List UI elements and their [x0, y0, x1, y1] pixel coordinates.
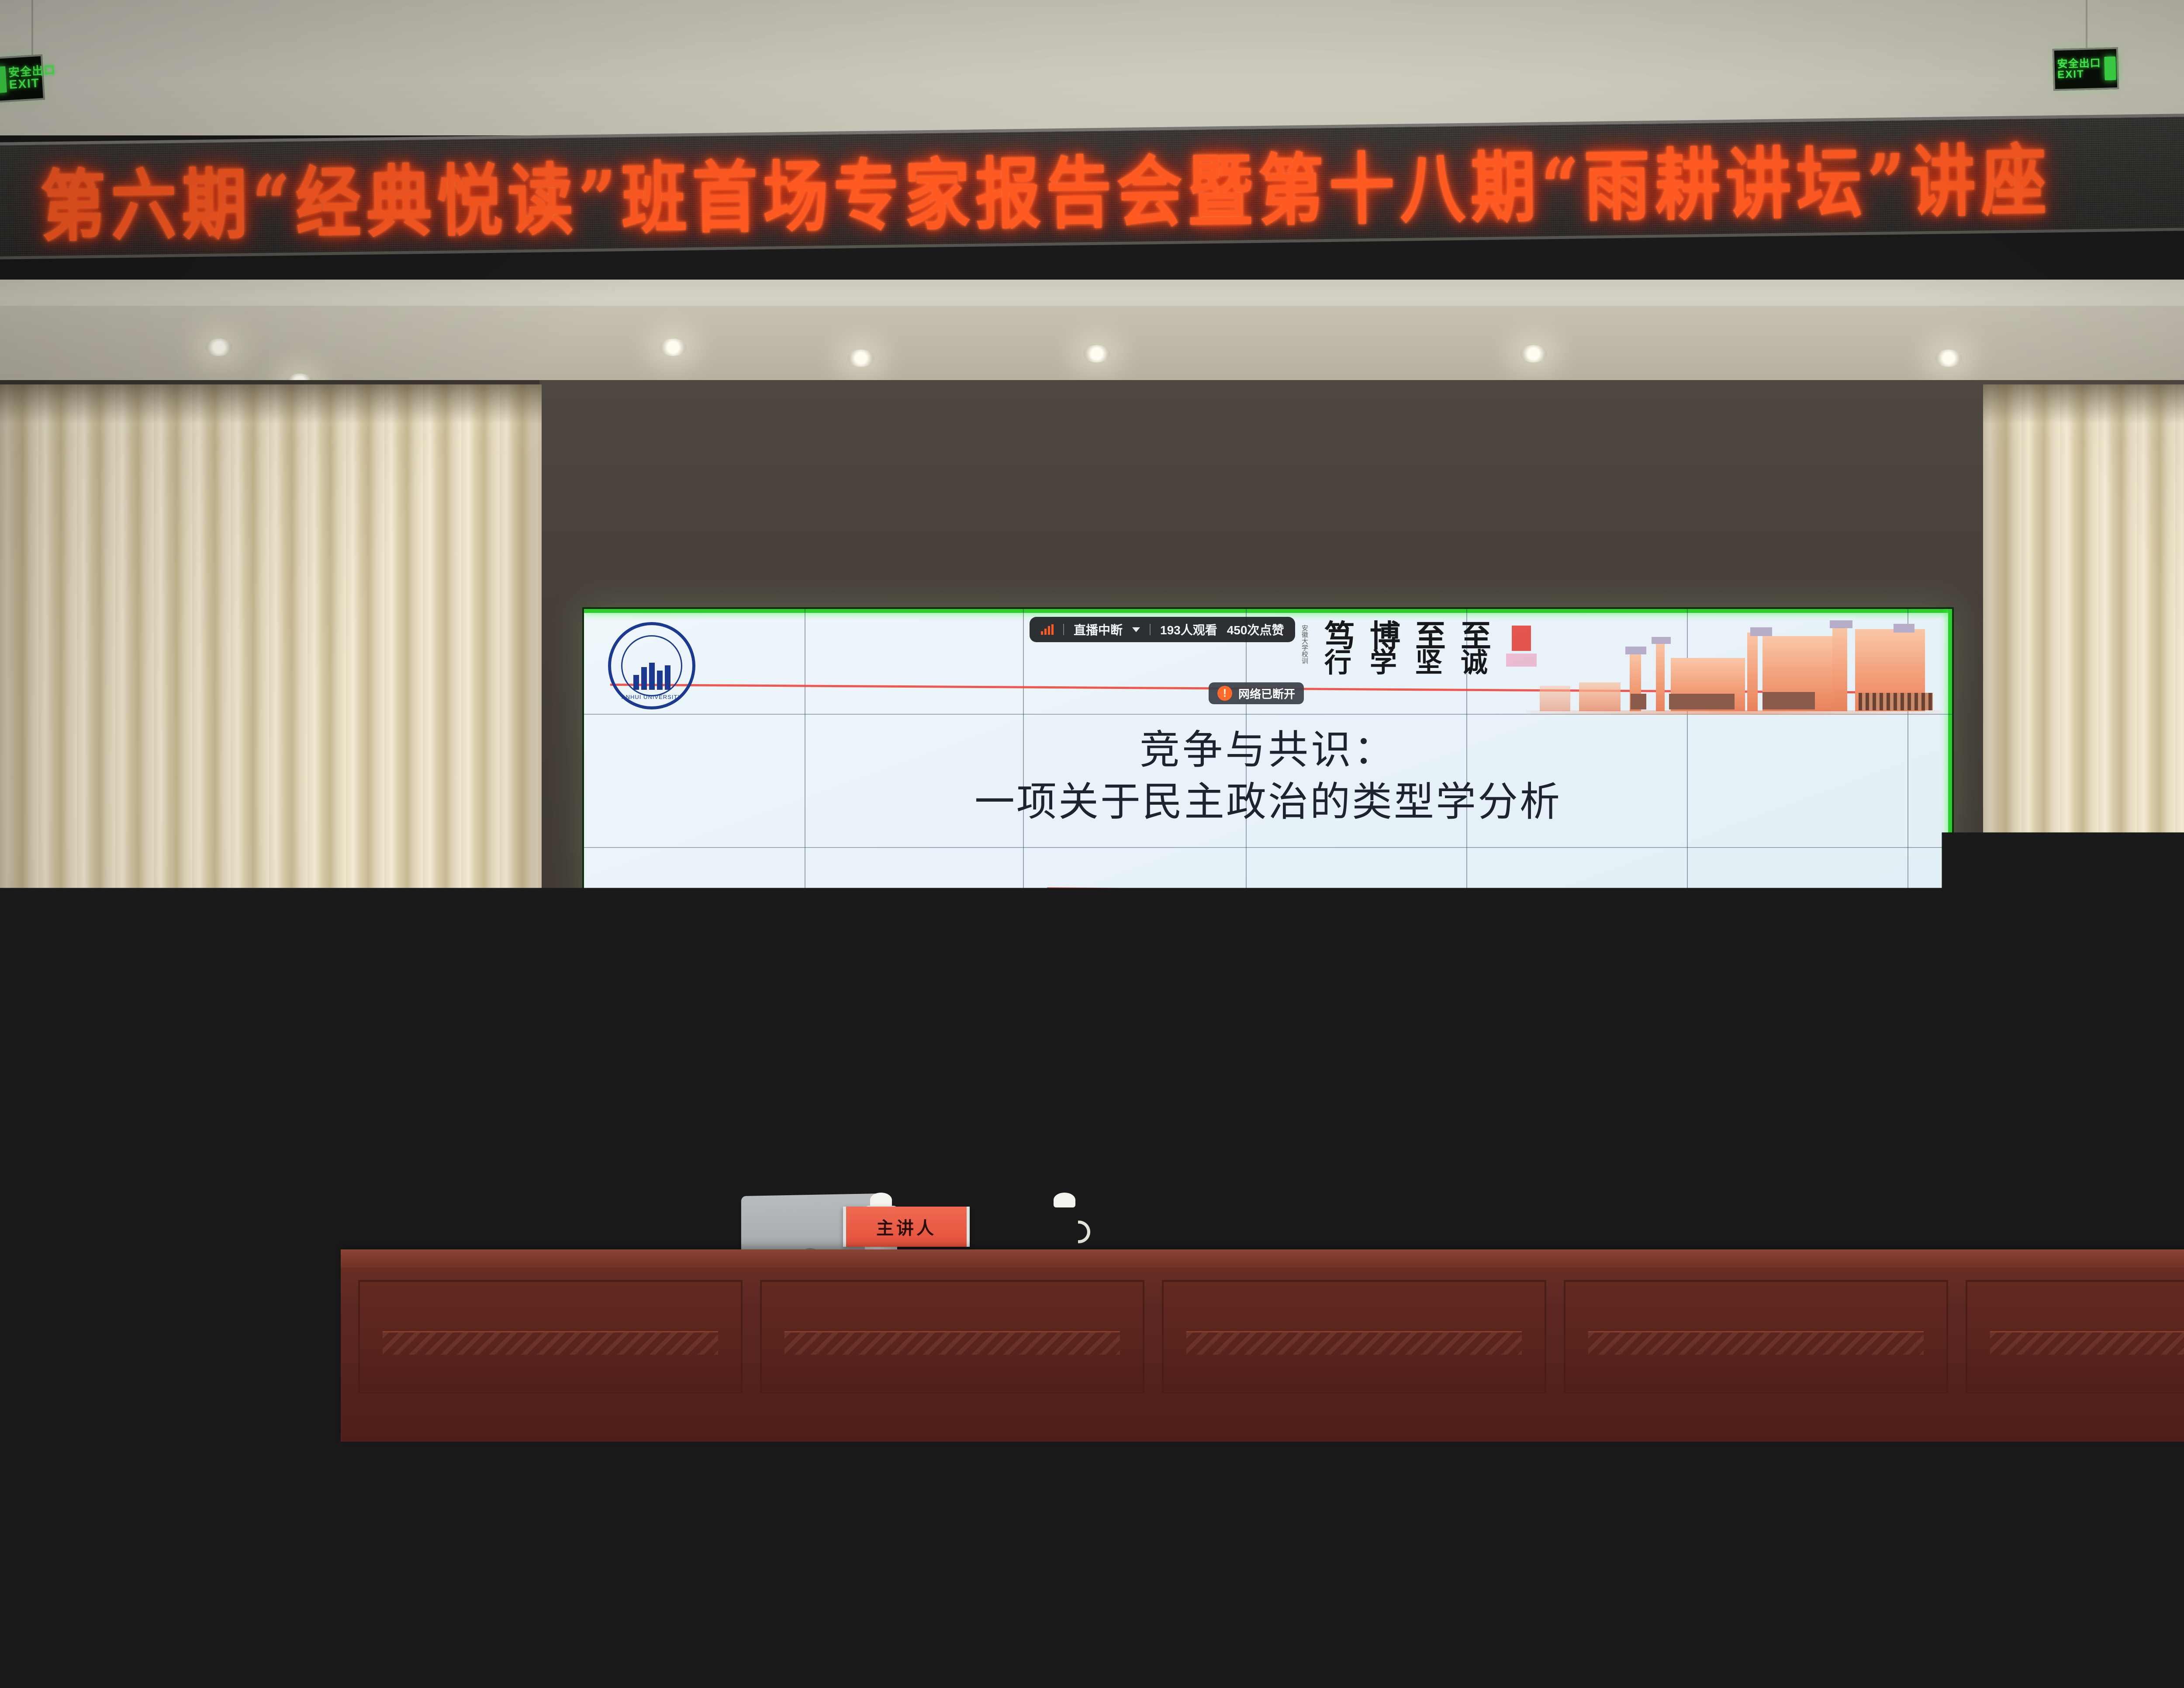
banner-text: 第六期“经典悦读”班首场专家报告会暨第十八期“雨耕讲坛”讲座 — [39, 118, 2052, 256]
skyline-building — [1656, 641, 1665, 711]
record-indicator-icon — [1569, 1552, 1576, 1559]
skyline-window-band — [1669, 694, 1735, 709]
exit-sign-right: 安全出口 EXIT — [2053, 47, 2119, 91]
motto-column-1: 笃 行 — [1324, 622, 1355, 675]
audience-head — [1918, 1555, 2011, 1653]
network-disconnected-toast: ! 网络已断开 — [1209, 682, 1304, 704]
ceiling-downlight — [847, 349, 874, 367]
slide-title: 竞争与共识： 一项关于民主政治的类型学分析 — [584, 725, 1952, 829]
lecture-hall-photo: 安全出口 EXIT 安全出口 EXIT 第六期“经典悦读”班首场专家报告会暨第十… — [0, 0, 2184, 1688]
audience-head — [1773, 1581, 1876, 1686]
audience-head — [913, 1595, 1013, 1688]
skyline-roof-cap — [1894, 624, 1914, 633]
slide-speaker-name: 徐理响 — [584, 978, 1952, 1014]
ceiling-band — [0, 306, 2184, 384]
skyline-building — [1579, 682, 1621, 711]
motto-char: 诚 — [1461, 650, 1491, 675]
anhui-university-seal-icon: ANHUI UNIVERSITY — [608, 622, 695, 709]
motto-char: 至 — [1415, 622, 1446, 650]
slide-affiliation: 安徽大学社会与政治学院 — [584, 941, 1952, 978]
lectern: 安徽工程大学 1935 — [155, 1136, 352, 1407]
like-count: 450次点赞 — [1227, 621, 1284, 638]
motto-column-2: 博 学 — [1370, 622, 1400, 675]
exit-sign-label-en: EXIT — [2057, 69, 2101, 80]
audience-head — [26, 1590, 127, 1688]
exit-sign-left: 安全出口 EXIT — [0, 54, 45, 103]
stage-curtain-right — [1983, 384, 2184, 1293]
viewer-count: 193人观看 — [1160, 621, 1217, 638]
ceiling-downlight — [1083, 345, 1110, 363]
slide-metadata: 安徽大学社会与政治学院 徐理响 2025. 10. 22 — [584, 941, 1952, 1051]
curtain-shadow — [0, 384, 542, 424]
audience-head — [507, 1468, 594, 1560]
nameplate-host-name: 李 琛 — [1243, 1218, 1343, 1252]
campus-skyline-illustration — [1527, 620, 1942, 721]
divider — [1063, 624, 1064, 635]
running-man-icon — [2104, 56, 2116, 80]
panel-seam — [1023, 609, 1024, 1152]
motto-char: 至 — [1461, 622, 1491, 650]
microphone-base — [585, 1237, 619, 1247]
motto-sidenote: 安徽大学校训 — [1300, 625, 1310, 664]
seal-caption: ANHUI UNIVERSITY — [611, 694, 692, 700]
signal-bars-icon — [1041, 624, 1054, 635]
table-panel — [760, 1280, 1144, 1394]
skyline-roof-cap — [1625, 647, 1646, 654]
screen-edge-glow-right — [1948, 609, 1952, 1152]
ceiling-downlight — [1520, 345, 1547, 363]
university-crest-icon: 1935 — [221, 1270, 287, 1336]
table-panel — [1966, 1280, 2184, 1394]
lectern-body: 1935 — [172, 1209, 336, 1407]
motto-char: 坚 — [1415, 650, 1446, 675]
audience-head — [1310, 1555, 1411, 1658]
eyeglasses-icon — [774, 1107, 823, 1117]
table-panel — [1162, 1280, 1546, 1394]
presentation-slide: ANHUI UNIVERSITY 直播中断 193人观看 450次点赞 ! 网络… — [584, 609, 1952, 1152]
motto-char: 学 — [1370, 650, 1400, 675]
camera-viewfinder-screen — [1484, 1445, 1540, 1487]
livestream-status-label: 直播中断 — [1074, 621, 1123, 638]
curtain-shadow — [1983, 384, 2184, 424]
exit-sign-wire — [2086, 0, 2087, 49]
slide-title-line-2: 一项关于民主政治的类型学分析 — [584, 775, 1952, 829]
audience-head — [1083, 1459, 1168, 1546]
ceiling-downlight — [1935, 349, 1962, 367]
audience-head — [332, 1599, 428, 1688]
video-camera-rig — [1498, 1435, 1607, 1688]
led-video-wall: ANHUI UNIVERSITY 直播中断 193人观看 450次点赞 ! 网络… — [582, 607, 1954, 1153]
skyline-window-band — [1762, 692, 1815, 709]
divider — [1150, 624, 1151, 635]
skyline-building — [1832, 626, 1847, 711]
motto-column-4: 至 诚 — [1461, 622, 1491, 675]
motto-char: 博 — [1370, 622, 1400, 650]
table-panel — [1564, 1280, 1948, 1394]
skyline-colonnade — [1859, 693, 1933, 710]
livestream-status-bar[interactable]: 直播中断 193人观看 450次点赞 — [1030, 617, 1295, 642]
skyline-window-band — [1631, 694, 1646, 709]
head-table — [341, 1249, 2184, 1442]
skyline-roof-cap — [1830, 620, 1852, 628]
running-man-icon — [0, 66, 7, 93]
nameplate-speaker: 主讲人 — [843, 1207, 970, 1247]
chevron-down-icon[interactable] — [1132, 627, 1140, 632]
skyline-building — [1747, 633, 1758, 711]
audience-head — [1682, 1477, 1773, 1570]
skyline-roof-cap — [1652, 637, 1671, 644]
ceiling-downlight — [205, 339, 232, 356]
skyline-roof-cap — [1750, 627, 1772, 636]
motto-char: 笃 — [1324, 622, 1355, 650]
slide-rule — [1047, 887, 1921, 896]
lectern-nameplate: 安徽工程大学 — [142, 1136, 365, 1175]
motto-column-3: 至 坚 — [1415, 622, 1446, 675]
screen-edge-glow-top — [584, 609, 1952, 613]
ceiling-downlight — [660, 339, 687, 356]
motto-char: 行 — [1324, 650, 1355, 675]
lectern-shelf — [152, 1173, 355, 1211]
audience-head — [830, 1455, 917, 1542]
slide-title-line-1: 竞争与共识： — [584, 725, 1952, 775]
table-panel — [358, 1280, 743, 1394]
panel-seam — [584, 847, 1952, 848]
skyline-building — [1540, 686, 1570, 711]
warning-icon: ! — [1217, 686, 1232, 701]
slide-date: 2025. 10. 22 — [584, 1014, 1952, 1051]
crest-ring — [226, 1276, 281, 1331]
table-edge — [341, 1249, 2184, 1268]
network-toast-label: 网络已断开 — [1238, 685, 1295, 702]
panel-seam — [805, 609, 805, 1152]
exit-sign-wire — [31, 0, 33, 57]
